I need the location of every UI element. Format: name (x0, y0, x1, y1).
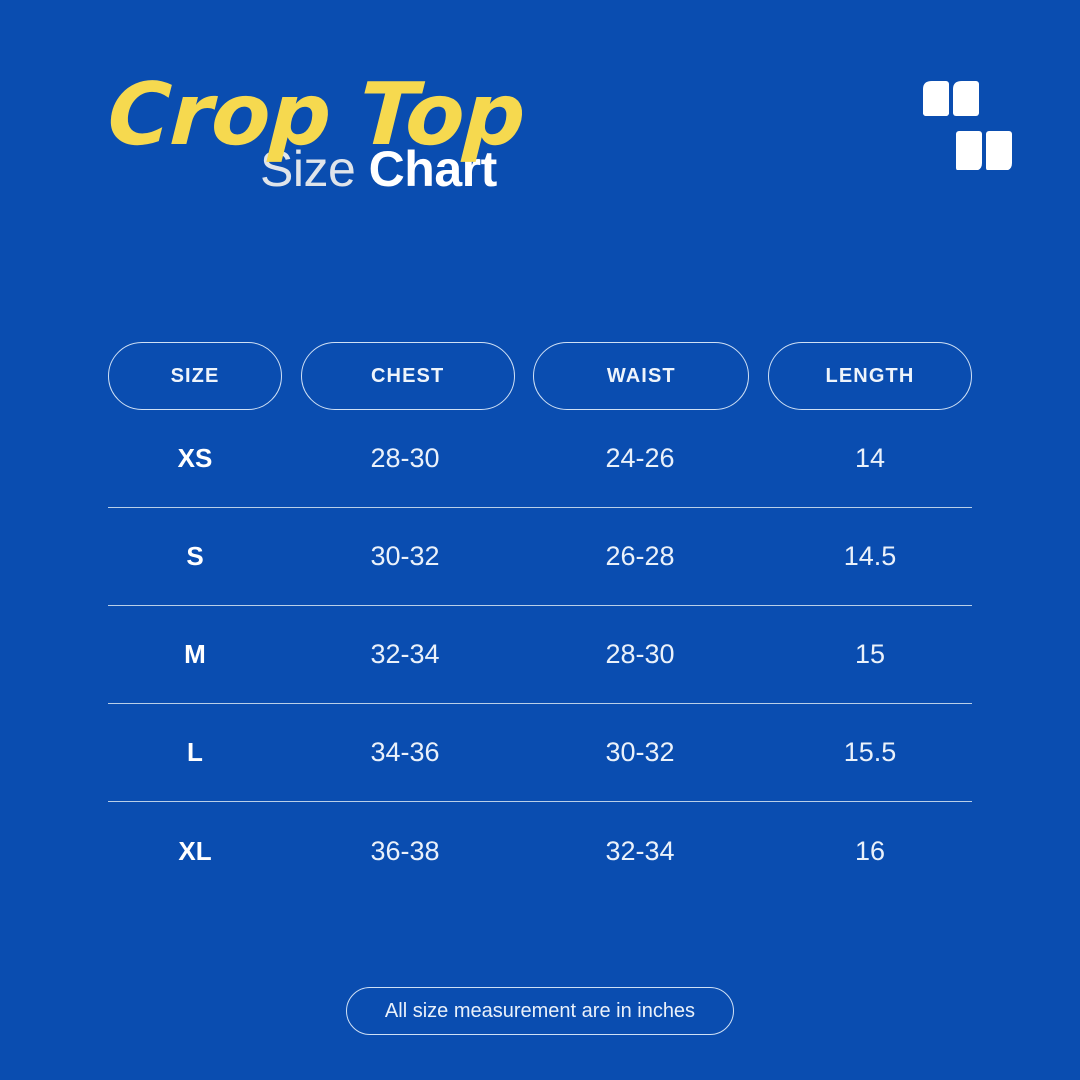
table-row: XS 28-30 24-26 14 (108, 410, 972, 508)
cell-chest: 36-38 (298, 836, 512, 867)
table-row: M 32-34 28-30 15 (108, 606, 972, 704)
cell-waist: 28-30 (532, 639, 748, 670)
table-header-row: SIZE CHEST WAIST LENGTH (108, 342, 972, 410)
page-title: Crop Top (106, 72, 527, 158)
cell-waist: 30-32 (532, 737, 748, 768)
table-row: S 30-32 26-28 14.5 (108, 508, 972, 606)
title-block: Crop Top Size Chart (108, 72, 524, 194)
cell-length: 15 (768, 639, 972, 670)
header: Crop Top Size Chart (0, 0, 1080, 300)
cell-waist: 24-26 (532, 443, 748, 474)
quotation-marks-logo (920, 78, 1012, 170)
cell-waist: 26-28 (532, 541, 748, 572)
table-body: XS 28-30 24-26 14 S 30-32 26-28 14.5 M 3… (108, 410, 972, 900)
cell-length: 14 (768, 443, 972, 474)
cell-chest: 32-34 (298, 639, 512, 670)
measurement-unit-note: All size measurement are in inches (346, 987, 734, 1035)
column-header-chest: CHEST (301, 342, 515, 410)
cell-size: M (108, 639, 282, 670)
cell-size: XL (108, 836, 282, 867)
column-header-size: SIZE (108, 342, 282, 410)
cell-size: L (108, 737, 282, 768)
footer: All size measurement are in inches (0, 987, 1080, 1035)
table-row: XL 36-38 32-34 16 (108, 802, 972, 900)
cell-chest: 34-36 (298, 737, 512, 768)
cell-chest: 30-32 (298, 541, 512, 572)
cell-waist: 32-34 (532, 836, 748, 867)
column-header-length: LENGTH (768, 342, 972, 410)
cell-chest: 28-30 (298, 443, 512, 474)
size-chart-table: SIZE CHEST WAIST LENGTH XS 28-30 24-26 1… (108, 342, 972, 900)
cell-length: 15.5 (768, 737, 972, 768)
cell-length: 16 (768, 836, 972, 867)
cell-length: 14.5 (768, 541, 972, 572)
cell-size: XS (108, 443, 282, 474)
cell-size: S (108, 541, 282, 572)
column-header-waist: WAIST (533, 342, 749, 410)
table-row: L 34-36 30-32 15.5 (108, 704, 972, 802)
